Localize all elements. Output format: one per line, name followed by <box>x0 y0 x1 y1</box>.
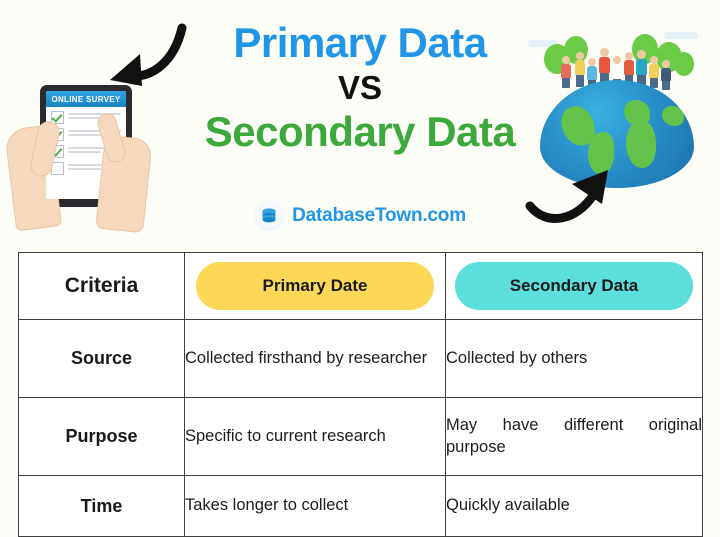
person <box>612 64 622 79</box>
brand-name: DatabaseTown.com <box>292 205 466 227</box>
person <box>599 57 610 73</box>
person <box>562 78 570 88</box>
person <box>661 68 671 81</box>
text-line <box>68 117 101 119</box>
person <box>625 52 633 60</box>
person <box>587 66 597 80</box>
landmass <box>626 120 656 168</box>
row-primary-purpose: Specific to current research <box>185 398 446 476</box>
person <box>662 81 670 90</box>
person <box>562 56 570 64</box>
tree <box>674 52 694 76</box>
column-header-criteria: Criteria <box>19 253 185 320</box>
row-criteria-source: Source <box>19 320 185 398</box>
person <box>637 50 646 59</box>
person <box>588 58 596 66</box>
page-title-secondary: Secondary Data <box>160 111 560 153</box>
table-header-row: Criteria Primary Date Secondary Data <box>19 253 703 320</box>
person <box>600 48 609 57</box>
person <box>650 56 658 64</box>
table-row: Time Takes longer to collect Quickly ava… <box>19 476 703 537</box>
database-cylinder-icon <box>261 207 278 226</box>
table-row: Source Collected firsthand by researcher… <box>19 320 703 398</box>
person <box>576 75 584 87</box>
person <box>649 64 659 78</box>
hero-section: ONLINE SURVEY <box>0 0 720 248</box>
row-secondary-source: Collected by others <box>446 320 703 398</box>
column-header-secondary-pill: Secondary Data <box>455 262 693 310</box>
cloud <box>664 32 698 39</box>
person <box>576 52 584 60</box>
landmass <box>662 106 684 126</box>
comparison-table: Criteria Primary Date Secondary Data Sou… <box>18 252 703 537</box>
column-header-secondary-cell: Secondary Data <box>446 253 703 320</box>
title-block: Primary Data VS Secondary Data <box>160 22 560 153</box>
row-secondary-time: Quickly available <box>446 476 703 537</box>
person <box>561 64 571 78</box>
column-header-primary-pill: Primary Date <box>196 262 434 310</box>
row-criteria-time: Time <box>19 476 185 537</box>
text-line <box>68 134 101 136</box>
person <box>636 59 647 75</box>
text-line <box>68 168 101 170</box>
row-primary-source: Collected firsthand by researcher <box>185 320 446 398</box>
person <box>613 56 621 64</box>
table-row: Purpose Specific to current research May… <box>19 398 703 476</box>
database-icon <box>254 201 284 231</box>
comparison-table-wrapper: Criteria Primary Date Secondary Data Sou… <box>18 252 702 537</box>
person <box>575 60 585 75</box>
page-title-primary: Primary Data <box>160 22 560 64</box>
row-criteria-purpose: Purpose <box>19 398 185 476</box>
column-header-primary-cell: Primary Date <box>185 253 446 320</box>
page-title-vs: VS <box>160 71 560 106</box>
text-line <box>68 151 101 153</box>
row-primary-time: Takes longer to collect <box>185 476 446 537</box>
survey-header-bar: ONLINE SURVEY <box>46 91 126 107</box>
row-secondary-purpose: May have different original purpose <box>446 398 703 476</box>
person <box>624 60 634 75</box>
person <box>662 60 670 68</box>
